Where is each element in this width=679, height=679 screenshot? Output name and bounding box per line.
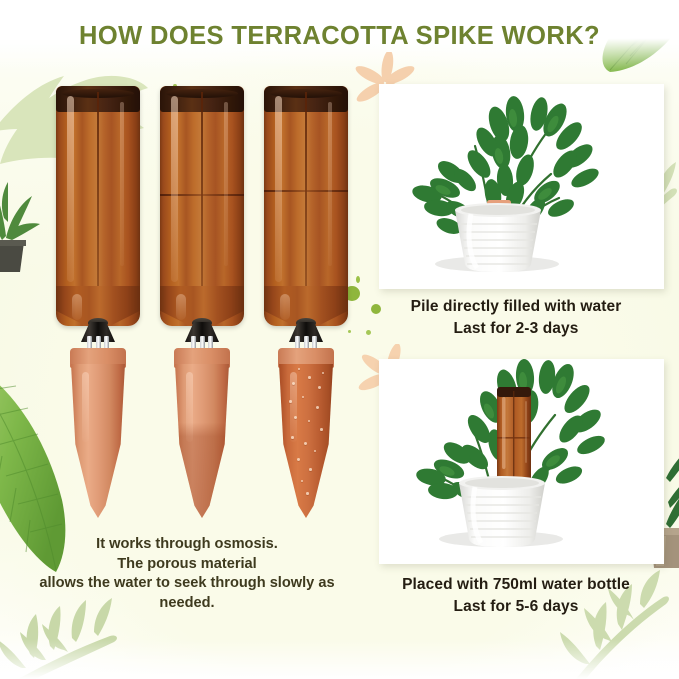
osmosis-description: It works through osmosis. The porous mat… (22, 535, 352, 613)
bottle-highlight-secondary (120, 102, 124, 266)
cone-highlight (82, 372, 89, 442)
bottle-highlight (171, 96, 178, 282)
product-spike-group (44, 86, 360, 516)
spike-half-saturated (156, 86, 248, 516)
bottle-taper-highlight (280, 294, 290, 320)
caption-1-line-1: Pile directly filled with water (366, 298, 666, 316)
desc-line-4: needed. (22, 594, 352, 614)
background-white-bottom-fade (0, 639, 679, 679)
caption-2-line-2: Last for 5-6 days (366, 598, 666, 616)
bottle-highlight-secondary (224, 102, 228, 266)
amber-inverted-bottle (264, 86, 348, 326)
spike-fully-wet (260, 86, 352, 516)
desc-line-1: It works through osmosis. (22, 535, 352, 555)
bottle-highlight-secondary (328, 102, 332, 266)
bottle-taper-highlight (72, 294, 82, 320)
infographic-canvas: HOW DOES TERRACOTTA SPIKE WORK? (0, 0, 679, 679)
terracotta-cone-wet-droplets (278, 348, 334, 518)
cone-highlight (186, 372, 193, 442)
caption-photo-2: Placed with 750ml water bottle Last for … (366, 576, 666, 616)
desc-line-3: allows the water to seek through slowly … (22, 574, 352, 594)
potted-plant-left (0, 168, 44, 288)
photo-plant-with-bottle (379, 359, 664, 564)
cone-body (71, 364, 125, 518)
page-title: HOW DOES TERRACOTTA SPIKE WORK? (0, 22, 679, 51)
terracotta-cone-dry (70, 348, 126, 518)
caption-photo-1: Pile directly filled with water Last for… (366, 298, 666, 338)
terracotta-cone-half-wet (174, 348, 230, 518)
bottle-taper-highlight (176, 294, 186, 320)
spike-dry (52, 86, 144, 516)
bottle-highlight (275, 96, 282, 282)
photo-plant-spike-only (379, 84, 664, 289)
cone-body (279, 364, 333, 518)
desc-line-2: The porous material (22, 555, 352, 575)
amber-inverted-bottle (56, 86, 140, 326)
caption-1-line-2: Last for 2-3 days (366, 320, 666, 338)
bottle-highlight (67, 96, 74, 282)
cone-body (175, 364, 229, 518)
caption-2-line-1: Placed with 750ml water bottle (366, 576, 666, 594)
amber-inverted-bottle (160, 86, 244, 326)
